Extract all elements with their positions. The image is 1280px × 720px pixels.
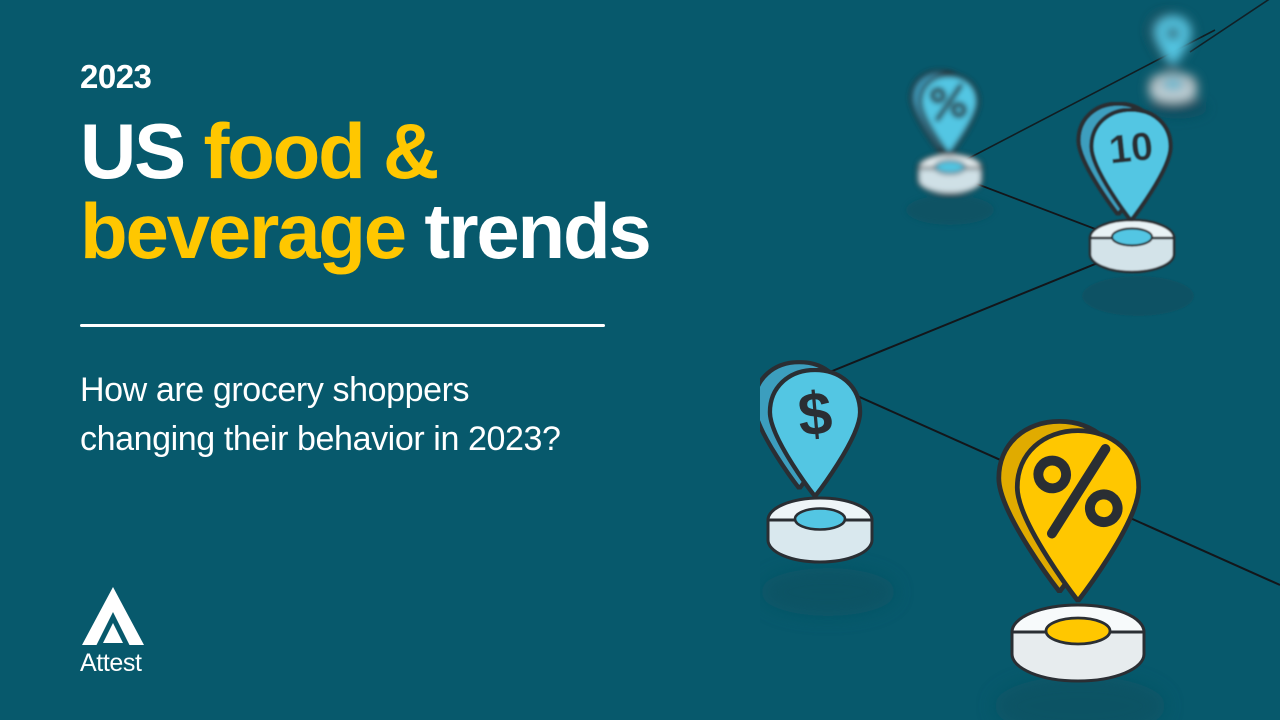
title-divider: [80, 324, 605, 327]
page-title-line-1: US food &: [80, 112, 780, 192]
page-title-line-2: beverage trends: [80, 192, 780, 272]
subtitle-line-2: changing their behavior in 2023?: [80, 415, 780, 464]
pin-far-background: [1148, 13, 1208, 119]
slide-root: 10 $: [0, 0, 1280, 720]
brand-name: Attest: [80, 651, 280, 676]
pin-dollar-base: [768, 498, 872, 562]
pin-percent-yellow-base: [1012, 605, 1144, 681]
pin-ten: 10: [1079, 104, 1194, 316]
subtitle-line-1: How are grocery shoppers: [80, 366, 780, 415]
page-title: US food & beverage trends: [80, 112, 780, 271]
pin-percent-yellow-body: [999, 421, 1139, 601]
map-pin-network-illustration: 10 $: [760, 0, 1280, 720]
triangle-logo-icon: [80, 585, 146, 647]
page-title-part-food: food &: [203, 107, 437, 195]
svg-text:10: 10: [1107, 124, 1155, 172]
svg-text:$: $: [795, 378, 835, 449]
subtitle: How are grocery shoppers changing their …: [80, 366, 780, 465]
page-title-part-us: US: [80, 107, 203, 195]
brand-logo: Attest: [80, 585, 280, 676]
pin-dollar: $: [760, 362, 896, 616]
page-title-part-beverage: beverage: [80, 187, 424, 275]
pin-percent-yellow: [994, 421, 1166, 720]
pin-percent-blue: [906, 72, 994, 225]
eyebrow-year: 2023: [80, 60, 151, 93]
headline-block: 2023 US food & beverage trends How are g…: [80, 0, 780, 720]
page-title-part-trends: trends: [424, 187, 649, 275]
